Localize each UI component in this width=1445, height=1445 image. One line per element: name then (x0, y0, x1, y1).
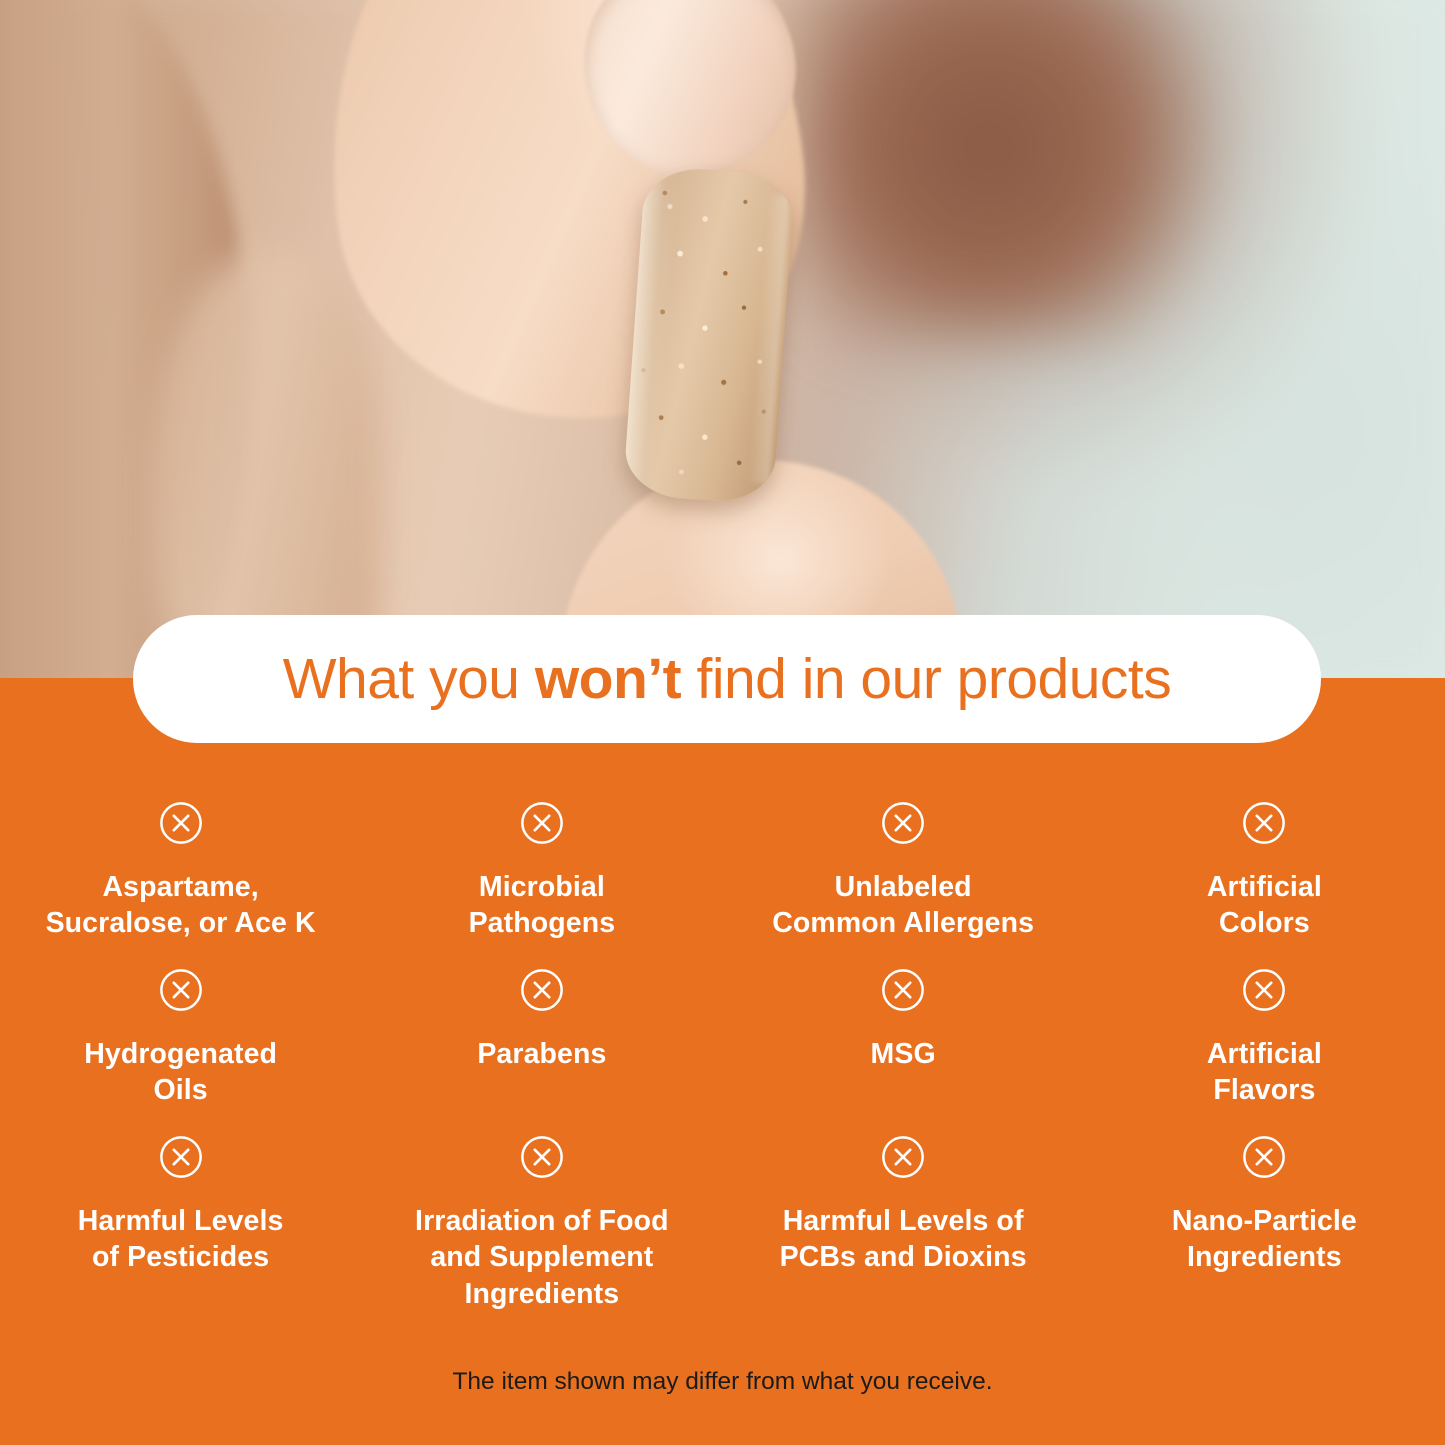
excluded-ingredient-item: Microbial Pathogens (361, 793, 722, 960)
excluded-ingredient-label: Irradiation of Food and Supplement Ingre… (415, 1203, 669, 1312)
excluded-ingredient-label: Harmful Levels of PCBs and Dioxins (780, 1203, 1027, 1276)
photo-supplement-tablet (623, 165, 796, 505)
page-title-emphasis: won’t (535, 647, 681, 711)
disclaimer-text: The item shown may differ from what you … (452, 1368, 992, 1395)
excluded-ingredients-grid: Aspartame, Sucralose, or Ace KMicrobial … (0, 793, 1445, 1294)
circle-x-icon (880, 1134, 926, 1180)
circle-x-icon (519, 1134, 565, 1180)
excluded-ingredient-label: Harmful Levels of Pesticides (78, 1203, 284, 1276)
excluded-ingredient-item: Parabens (361, 960, 722, 1127)
excluded-ingredient-label: Unlabeled Common Allergens (772, 869, 1034, 942)
excluded-ingredient-item: Harmful Levels of PCBs and Dioxins (723, 1127, 1084, 1294)
excluded-ingredient-item: Irradiation of Food and Supplement Ingre… (361, 1127, 722, 1294)
disclaimer-footer: The item shown may differ from what you … (0, 1368, 1445, 1396)
circle-x-icon (1241, 967, 1287, 1013)
excluded-ingredient-label: Hydrogenated Oils (84, 1036, 277, 1109)
hero-photo (0, 0, 1445, 680)
page-title-part2: find in our products (681, 647, 1171, 711)
excluded-ingredient-label: Artificial Colors (1207, 869, 1322, 942)
circle-x-icon (158, 967, 204, 1013)
excluded-ingredient-label: MSG (871, 1036, 936, 1072)
excluded-ingredient-item: Artificial Colors (1084, 793, 1445, 960)
page-title: What you won’t find in our products (283, 651, 1172, 708)
circle-x-icon (519, 967, 565, 1013)
circle-x-icon (880, 800, 926, 846)
circle-x-icon (880, 967, 926, 1013)
circle-x-icon (158, 1134, 204, 1180)
excluded-ingredient-label: Artificial Flavors (1207, 1036, 1322, 1109)
circle-x-icon (519, 800, 565, 846)
excluded-ingredient-label: Aspartame, Sucralose, or Ace K (46, 869, 316, 942)
excluded-ingredient-item: Harmful Levels of Pesticides (0, 1127, 361, 1294)
photo-dark-blur-blob (800, 0, 1220, 340)
excluded-ingredient-label: Microbial Pathogens (469, 869, 616, 942)
excluded-ingredient-item: MSG (723, 960, 1084, 1127)
page-title-part1: What you (283, 647, 535, 711)
product-claims-infographic: What you won’t find in our products Aspa… (0, 0, 1445, 1445)
excluded-ingredient-label: Nano-Particle Ingredients (1172, 1203, 1357, 1276)
excluded-ingredient-item: Hydrogenated Oils (0, 960, 361, 1127)
circle-x-icon (158, 800, 204, 846)
title-card: What you won’t find in our products (133, 615, 1321, 743)
circle-x-icon (1241, 1134, 1287, 1180)
excluded-ingredient-item: Nano-Particle Ingredients (1084, 1127, 1445, 1294)
excluded-ingredient-item: Aspartame, Sucralose, or Ace K (0, 793, 361, 960)
circle-x-icon (1241, 800, 1287, 846)
excluded-ingredient-item: Unlabeled Common Allergens (723, 793, 1084, 960)
excluded-ingredient-item: Artificial Flavors (1084, 960, 1445, 1127)
excluded-ingredient-label: Parabens (477, 1036, 606, 1072)
